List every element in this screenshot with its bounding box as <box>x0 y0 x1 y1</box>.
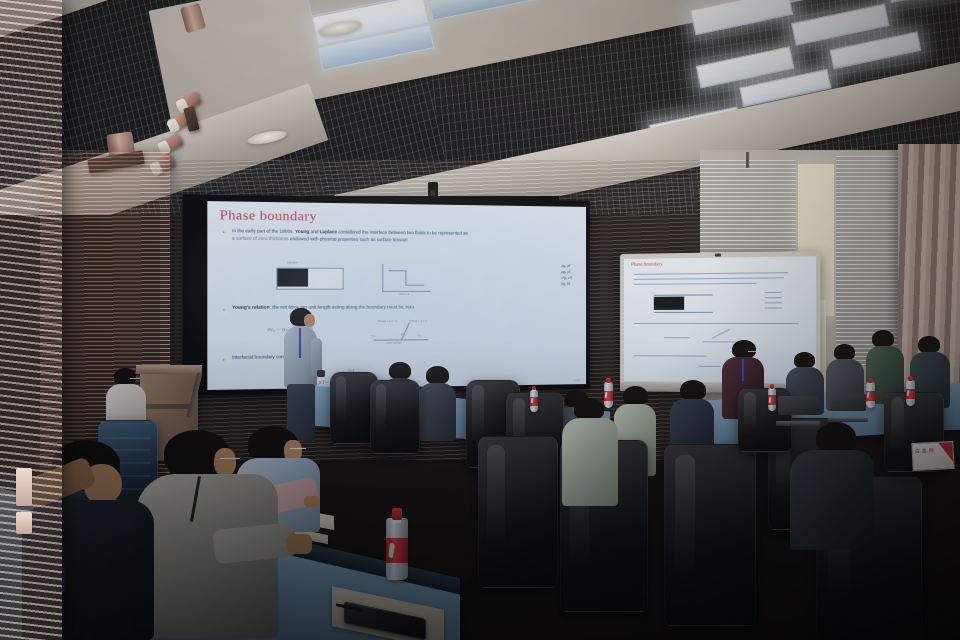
name-card-placard: 白金帅 <box>911 441 954 471</box>
laptop[interactable] <box>830 394 866 422</box>
bullet-marker: • <box>223 357 225 362</box>
chair-back-row[interactable] <box>370 380 418 452</box>
slide-bullet-1: In the early part of the 1800s, Young an… <box>232 228 468 244</box>
water-bottle[interactable] <box>866 378 875 408</box>
diagram-step-top <box>389 270 406 271</box>
monitor-camera-icon <box>715 253 721 256</box>
diagram-phase-1: Phase 1 φ = −1 <box>378 320 397 323</box>
bullet1-text-b: and <box>309 229 319 234</box>
bullet1-bold-young: Young <box>295 229 309 234</box>
bullet1-text-e: endowed with <box>289 236 319 242</box>
light-switch[interactable] <box>16 468 32 506</box>
diagram-mid-caption: distance <box>399 293 409 296</box>
bullet1-text-d: between two fluids to be represented as <box>389 230 468 236</box>
property-k: kg, kl <box>561 281 572 287</box>
bullet-marker: • <box>223 229 225 234</box>
camera-icon <box>428 182 438 197</box>
bullet1-bold-laplace: Laplace <box>320 229 337 234</box>
diagram-axis-y <box>382 264 383 291</box>
diagram-sigma-left: σₛ₁ <box>372 334 376 337</box>
monitor-diagram-fill <box>654 297 684 310</box>
conference-room-photo: 欢迎参加学术报告会 Phase boundary • In the early … <box>0 0 960 640</box>
presenter-face <box>304 314 315 327</box>
bullet1-highlight: a surface of zero thickness <box>232 235 289 241</box>
bullet1-text-a: In the early part of the 1800s, <box>232 228 295 234</box>
bullet1-text-c: considered the interface <box>337 229 387 235</box>
diagram-axis-x <box>382 291 430 292</box>
laptop[interactable] <box>778 396 818 426</box>
left-wall-foreground <box>0 0 62 640</box>
diagram-step-drop <box>405 270 406 284</box>
diagram-theta: θ <box>401 333 403 336</box>
name-card-text: 白金帅 <box>915 447 936 455</box>
slide-title: Phase boundary <box>220 207 317 225</box>
attendee-hand <box>286 534 312 554</box>
water-bottle[interactable] <box>604 378 613 408</box>
bullet1-text-f: physical properties such as surface tens… <box>320 236 408 242</box>
slide-properties-column: ρg, ρl μg, μl cᵖg, cᵖl kg, kl <box>561 263 572 287</box>
blind-cord[interactable] <box>746 152 749 168</box>
water-bottle[interactable] <box>906 376 915 406</box>
bullet2-bold: Young's relation <box>232 305 270 310</box>
presentation-clicker[interactable] <box>317 370 325 377</box>
attendee-green-jacket <box>562 398 620 508</box>
diagram-phase-fill <box>277 269 308 287</box>
attendee-center-front <box>418 366 458 444</box>
water-bottle-front[interactable] <box>386 508 408 580</box>
diagram-phase-2: Phase 2 φ = 1 <box>410 320 427 323</box>
chair-foreground-center[interactable] <box>478 436 556 586</box>
attendee-right-foreground <box>790 422 876 552</box>
water-bottle[interactable] <box>530 386 538 412</box>
monitor-slide-title: Phase boundary <box>631 262 663 267</box>
presenter-lanyard <box>299 328 301 358</box>
diagram-solid-caption: solid surface <box>386 341 401 344</box>
diagram-step-bottom <box>405 285 424 286</box>
bullet-marker: • <box>223 307 225 312</box>
water-bottle[interactable] <box>768 384 776 411</box>
diagram-sigma-right: σₛ₂ <box>418 334 422 337</box>
chair-foreground-right[interactable] <box>664 444 754 624</box>
light-switch[interactable] <box>16 512 32 534</box>
diagram-left-caption: interface <box>287 261 298 264</box>
diagram-interface-line <box>401 322 409 339</box>
slide-page-number: 13/36 <box>573 378 580 382</box>
attendee-hand <box>304 496 320 507</box>
